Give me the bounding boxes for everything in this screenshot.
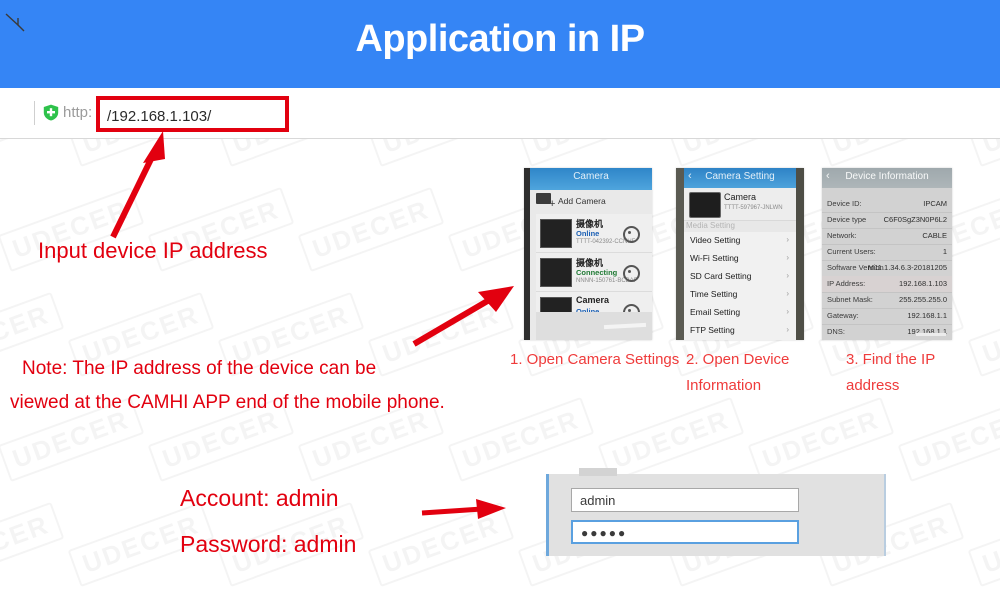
device-info-value: M11.1.34.6.3-20181205 [868,263,947,272]
page-header: Application in IP [0,0,1000,88]
device-info-row: Subnet Mask:255.255.255.0 [822,292,952,309]
camera-status: Connecting [576,268,617,277]
device-info-value: IPCAM [923,199,947,208]
device-info-key: Device ID: [827,199,862,208]
url-input[interactable]: /192.168.1.103/ [96,96,289,132]
device-info-row: Software VersionM11.1.34.6.3-20181205 [822,260,952,277]
device-info-key: Subnet Mask: [827,295,873,304]
device-info-row: Device typeC6F0SgZ3N0P6L2 [822,212,952,229]
caption-step-3: 3. Find the IP address [846,347,966,399]
caption-step-1: 1. Open Camera Settings [510,347,690,373]
setting-label: Video Setting [690,235,740,245]
annotation-account: Account: admin [180,485,339,512]
setting-row[interactable]: Wi-Fi Setting› [684,250,796,269]
camera-name: Camera [724,192,756,202]
device-info-row: Device ID:IPCAM [822,196,952,213]
camera-list-item[interactable]: 摄像机ConnectingNNNN-150761-BCBAF [536,253,652,292]
watermark-text: UDECER [298,187,445,272]
url-protocol-label: http: [63,104,92,121]
shield-icon [43,104,59,121]
back-arrow-icon[interactable] [4,12,26,34]
watermark-text: UDECER [968,292,1000,377]
phone2-body: Camera TTTT-597967-JNLWN Media Setting V… [684,188,796,340]
camera-name: Camera [576,295,609,305]
arrow-to-url-icon [95,125,185,240]
setting-label: SD Card Setting [690,271,751,281]
chevron-right-icon: › [786,271,789,280]
setting-row[interactable]: SD Card Setting› [684,268,796,287]
camera-list-item[interactable]: 摄像机OnlineTTTT-042392-CCNHF [536,214,652,253]
add-camera-row[interactable]: + Add Camera [558,196,606,206]
page-root: UDECERUDECERUDECERUDECERUDECERUDECERUDEC… [0,0,1000,600]
phone3-title: Device Information [822,171,952,182]
watermark-text: UDECER [898,397,1000,482]
phone3-header: ‹ Device Information [822,168,952,188]
device-info-row: IP Address:192.168.1.103 [822,276,952,293]
device-info-key: Current Users: [827,247,876,256]
camera-summary-row: Camera TTTT-597967-JNLWN [684,188,796,221]
phone1-title: Camera [530,171,652,182]
device-info-value: 255.255.255.0 [899,295,947,304]
phone2-title: Camera Setting [684,171,796,182]
camera-thumbnail [540,219,572,248]
gear-icon[interactable] [623,226,640,243]
arrow-to-phone1-icon [410,282,520,352]
setting-label: Email Setting [690,307,740,317]
phone1-body: + Add Camera 摄像机OnlineTTTT-042392-CCNHF摄… [530,190,652,340]
username-input[interactable]: admin [571,488,799,512]
device-info-value: 1 [943,247,947,256]
device-info-row: Network:CABLE [822,228,952,245]
setting-row[interactable]: FTP Setting› [684,322,796,340]
plus-icon: + [549,200,555,208]
add-camera-label: Add Camera [558,196,606,206]
toolbar-divider [34,101,35,125]
chevron-right-icon: › [786,253,789,262]
annotation-input-ip: Input device IP address [38,238,268,264]
watermark-text: UDECER [748,397,895,482]
device-info-row: DNS:192.168.1.1 [822,324,952,340]
watermark-text: UDECER [0,502,64,587]
camera-id: TTTT-597967-JNLWN [724,205,783,211]
camera-status: Online [576,229,599,238]
phone-screenshot-device-information: ‹ Device Information Device ID:IPCAMDevi… [822,168,952,340]
password-input[interactable]: ●●●●● [571,520,799,544]
device-info-value: 192.168.1.103 [899,279,947,288]
chevron-right-icon: › [786,235,789,244]
url-input-value: /192.168.1.103/ [107,108,211,125]
arrow-to-login-icon [420,495,510,529]
login-partial-label [579,468,617,476]
phone-screenshot-camera-list: Camera + Add Camera 摄像机OnlineTTTT-042392… [524,168,652,340]
setting-row[interactable]: Email Setting› [684,304,796,323]
device-info-value: C6F0SgZ3N0P6L2 [884,215,947,224]
page-title: Application in IP [0,18,1000,61]
chevron-right-icon: › [786,307,789,316]
annotation-note-line1: Note: The IP address of the device can b… [22,358,376,380]
phone3-body: Device ID:IPCAMDevice typeC6F0SgZ3N0P6L2… [822,188,952,340]
watermark-text: UDECER [598,397,745,482]
device-info-row: Current Users:1 [822,244,952,261]
phone1-footer [536,312,652,340]
chevron-right-icon: › [786,289,789,298]
device-info-key: Gateway: [827,311,859,320]
camera-thumbnail [540,258,572,287]
device-info-key: Device type [827,215,866,224]
phone3-home-indicator [916,333,946,336]
setting-row[interactable]: Time Setting› [684,286,796,305]
device-info-value: 192.168.1.1 [907,311,947,320]
chevron-right-icon: › [786,325,789,334]
login-form-panel: admin ●●●●● [546,474,886,556]
caption-step-2: 2. Open Device Information [686,347,806,399]
camera-thumbnail [689,192,721,218]
phone1-header: Camera [530,168,652,190]
phone2-header: ‹ Camera Setting [684,168,796,188]
phone1-home-indicator [604,323,646,329]
device-info-value: CABLE [922,231,947,240]
phone2-bezel-right [796,168,804,340]
setting-label: Time Setting [690,289,737,299]
phone-screenshot-camera-setting: ‹ Camera Setting Camera TTTT-597967-JNLW… [676,168,804,340]
annotation-password: Password: admin [180,531,356,558]
gear-icon[interactable] [623,265,640,282]
watermark-text: UDECER [448,397,595,482]
setting-label: FTP Setting [690,325,735,335]
device-info-row: Gateway:192.168.1.1 [822,308,952,325]
annotation-note-line2: viewed at the CAMHI APP end of the mobil… [10,392,445,414]
device-info-key: IP Address: [827,279,865,288]
setting-label: Wi-Fi Setting [690,253,739,263]
phone2-bezel-left [676,168,684,340]
device-info-key: Network: [827,231,857,240]
watermark-text: UDECER [968,502,1000,587]
device-info-key: DNS: [827,327,845,336]
setting-row[interactable]: Video Setting› [684,232,796,251]
partial-setting-row: Media Setting [686,221,735,230]
